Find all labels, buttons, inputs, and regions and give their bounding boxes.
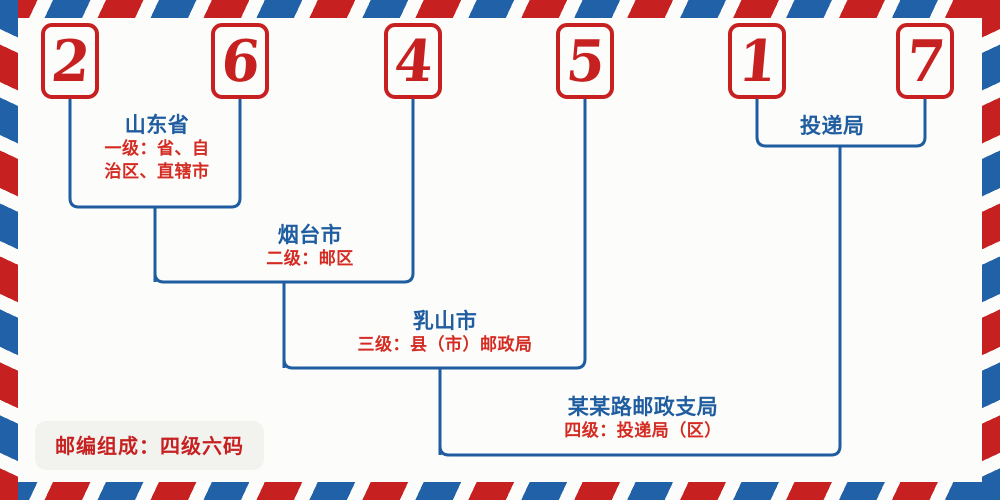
digit-value-5: 1 [736, 32, 778, 89]
digit-card-5[interactable]: 1 [728, 23, 786, 99]
level-1-desc: 一级：省、自 治区、直辖市 [78, 138, 236, 183]
level-3-title: 乳山市 [300, 308, 590, 334]
digit-value-2: 6 [219, 32, 261, 89]
level-4-desc: 四级：投递局（区） [468, 420, 818, 442]
digit-value-6: 7 [904, 32, 946, 89]
level-2-desc: 二级：邮区 [185, 248, 435, 270]
digit-card-1[interactable]: 2 [41, 23, 99, 99]
legend-text: 邮编组成：四级六码 [55, 434, 244, 458]
digit-value-1: 2 [49, 32, 91, 89]
level-2-title: 烟台市 [185, 222, 435, 248]
level-4-title: 某某路邮政支局 [468, 394, 818, 420]
postal-code-diagram: 2 6 4 5 1 7 山东省 一级：省、自 治区、直辖市 烟台市 二级：邮区 … [0, 0, 1000, 500]
digit-card-6[interactable]: 7 [896, 23, 954, 99]
level-3-label: 乳山市 三级：县（市）邮政局 [300, 308, 590, 357]
level-4-label: 某某路邮政支局 四级：投递局（区） [468, 394, 818, 443]
digit-value-3: 4 [392, 32, 434, 89]
digit-card-3[interactable]: 4 [384, 23, 442, 99]
legend-chip: 邮编组成：四级六码 [35, 421, 264, 470]
level-2-label: 烟台市 二级：邮区 [185, 222, 435, 271]
level-3-desc: 三级：县（市）邮政局 [300, 334, 590, 356]
digit-card-4[interactable]: 5 [556, 23, 614, 99]
level-1-label: 山东省 一级：省、自 治区、直辖市 [78, 112, 236, 183]
delivery-group-label: 投递局 [800, 110, 865, 140]
digit-card-2[interactable]: 6 [211, 23, 269, 99]
level-1-title: 山东省 [78, 112, 236, 138]
digit-value-4: 5 [564, 32, 606, 89]
